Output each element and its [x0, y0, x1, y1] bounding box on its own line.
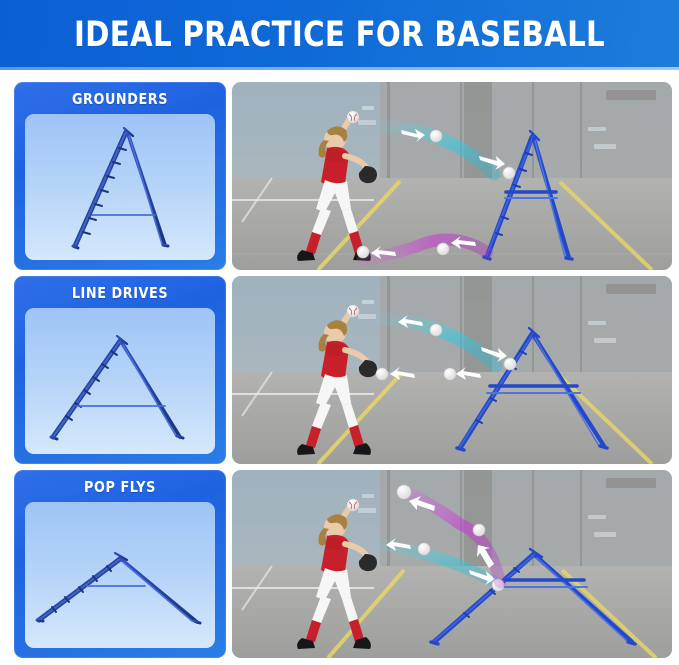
header-banner: IDEAL PRACTICE FOR BASEBALL: [0, 0, 679, 70]
banner-underline: [0, 67, 679, 70]
feature-row-line-drives: LINE DRIVES: [0, 276, 679, 464]
action-photo-line-drives: [232, 276, 672, 464]
card-label-line-drives: LINE DRIVES: [19, 284, 220, 302]
rebounder-steep-a-frame-icon: [25, 114, 215, 260]
photo-scene-grounders: [232, 82, 672, 270]
rebounder-flat-a-frame-icon: [25, 502, 215, 648]
card-label-pop-flys: POP FLYS: [19, 478, 220, 496]
action-photo-grounders: [232, 82, 672, 270]
rebounder-medium-a-frame-icon: [25, 308, 215, 454]
feature-row-pop-flys: POP FLYS: [0, 470, 679, 658]
feature-row-grounders: GROUNDERS: [0, 82, 679, 270]
return-trajectory-magenta: [376, 367, 504, 380]
action-photo-pop-flys: [232, 470, 672, 658]
photo-scene-pop-flys: [232, 470, 672, 658]
diagram-panel-pop-flys: [25, 502, 215, 648]
diagram-card-line-drives: LINE DRIVES: [14, 276, 226, 464]
photo-scene-line-drives: [232, 276, 672, 464]
diagram-panel-line-drives: [25, 308, 215, 454]
card-label-grounders: GROUNDERS: [19, 90, 220, 108]
diagram-card-pop-flys: POP FLYS: [14, 470, 226, 658]
diagram-card-grounders: GROUNDERS: [14, 82, 226, 270]
infographic-page: IDEAL PRACTICE FOR BASEBALL GROUNDERS: [0, 0, 679, 665]
page-title: IDEAL PRACTICE FOR BASEBALL: [74, 15, 605, 55]
diagram-panel-grounders: [25, 114, 215, 260]
